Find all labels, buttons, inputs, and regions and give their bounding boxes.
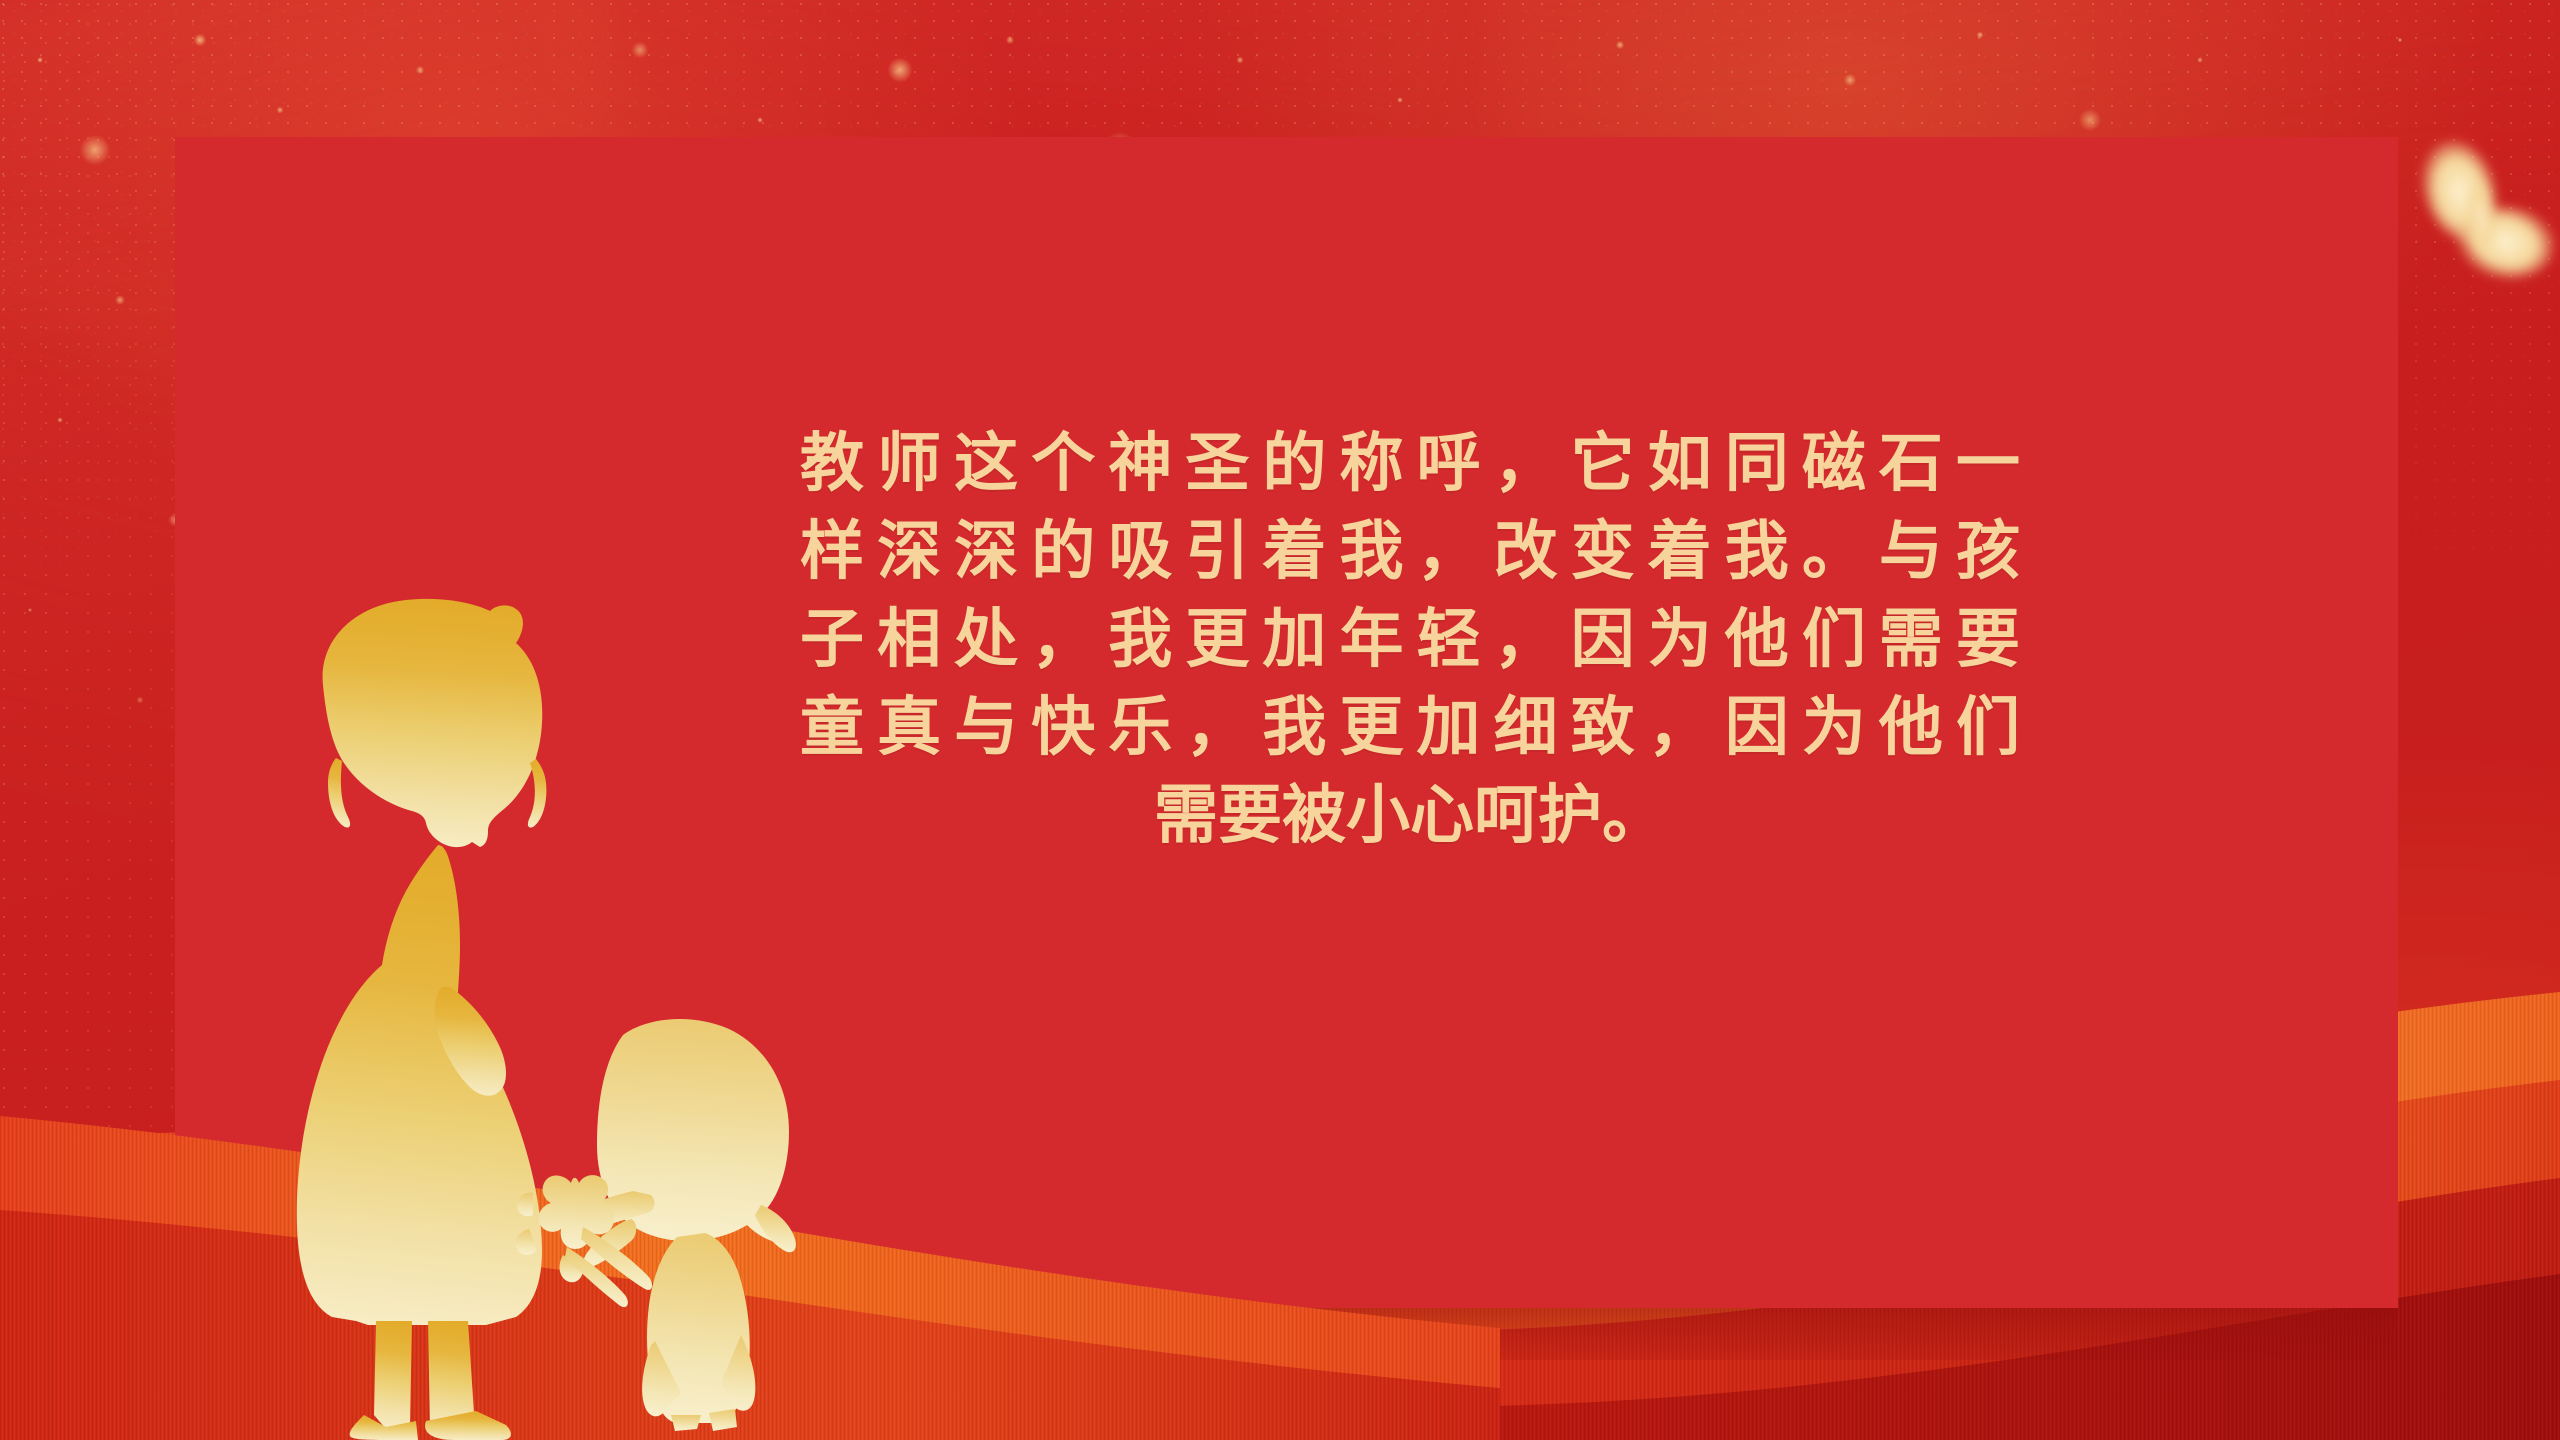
child-silhouette — [505, 1015, 815, 1440]
teacher-hair-strand-left — [328, 758, 350, 828]
slide-canvas: 教师这个神圣的称呼，它如同磁石一 样深深的吸引着我，改变着我。与孩 子相处，我更… — [0, 0, 2560, 1440]
quote-text-block: 教师这个神圣的称呼，它如同磁石一 样深深的吸引着我，改变着我。与孩 子相处，我更… — [800, 420, 2020, 860]
quote-line-3: 子相处，我更加年轻，因为他们需要 — [800, 596, 2020, 684]
teacher-head-hair — [323, 599, 543, 847]
quote-line-4: 童真与快乐，我更加细致，因为他们 — [800, 684, 2020, 772]
quote-line-2: 样深深的吸引着我，改变着我。与孩 — [800, 508, 2020, 596]
quote-line-1: 教师这个神圣的称呼，它如同磁石一 — [800, 420, 2020, 508]
child-body — [516, 1019, 796, 1431]
butterfly-glow — [2418, 140, 2560, 300]
quote-line-5: 需要被小心呵护。 — [800, 772, 2020, 860]
child-leg-left — [671, 1415, 701, 1431]
teacher-leg-back — [374, 1321, 412, 1429]
